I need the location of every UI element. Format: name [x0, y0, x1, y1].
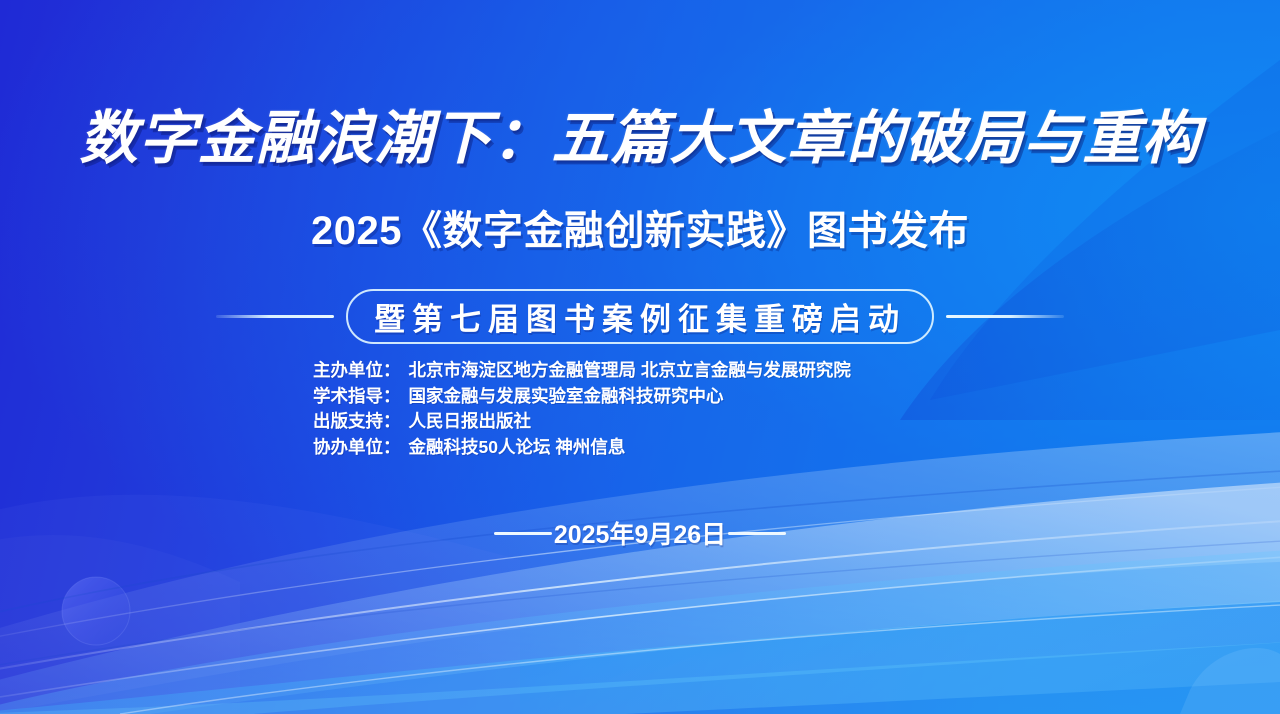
date-dash-right	[728, 532, 786, 535]
event-poster: 数字金融浪潮下：五篇大文章的破局与重构 2025《数字金融创新实践》图书发布 暨…	[0, 0, 1280, 714]
divider-right	[946, 315, 1064, 318]
date-dash-left	[494, 532, 552, 535]
page-title: 数字金融浪潮下：五篇大文章的破局与重构	[0, 108, 1280, 169]
credit-value: 人民日报出版社	[401, 409, 532, 435]
credit-value: 国家金融与发展实验室金融科技研究中心	[401, 384, 724, 410]
divider-left	[216, 315, 334, 318]
highlight-pill: 暨第七届图书案例征集重磅启动	[346, 289, 934, 344]
credit-value: 金融科技50人论坛 神州信息	[401, 435, 626, 461]
credit-label: 主办单位：	[313, 358, 401, 384]
event-date: 2025年9月26日	[552, 515, 728, 551]
band-row: 暨第七届图书案例征集重磅启动	[0, 288, 1280, 344]
credit-label: 协办单位：	[313, 435, 401, 461]
credit-label: 出版支持：	[313, 409, 401, 435]
credits-block: 主办单位： 北京市海淀区地方金融管理局 北京立言金融与发展研究院 学术指导： 国…	[313, 358, 1013, 460]
credit-row-co-organizer: 协办单位： 金融科技50人论坛 神州信息	[313, 435, 1013, 461]
subtitle: 2025《数字金融创新实践》图书发布	[0, 209, 1280, 253]
credit-row-publishing-support: 出版支持： 人民日报出版社	[313, 409, 1013, 435]
highlight-pill-label: 暨第七届图书案例征集重磅启动	[374, 294, 906, 339]
credit-row-academic-guidance: 学术指导： 国家金融与发展实验室金融科技研究中心	[313, 384, 1013, 410]
event-date-row: 2025年9月26日	[0, 515, 1280, 551]
credit-value: 北京市海淀区地方金融管理局 北京立言金融与发展研究院	[401, 358, 851, 384]
credit-row-organizer: 主办单位： 北京市海淀区地方金融管理局 北京立言金融与发展研究院	[313, 358, 1013, 384]
credit-label: 学术指导：	[313, 384, 401, 410]
